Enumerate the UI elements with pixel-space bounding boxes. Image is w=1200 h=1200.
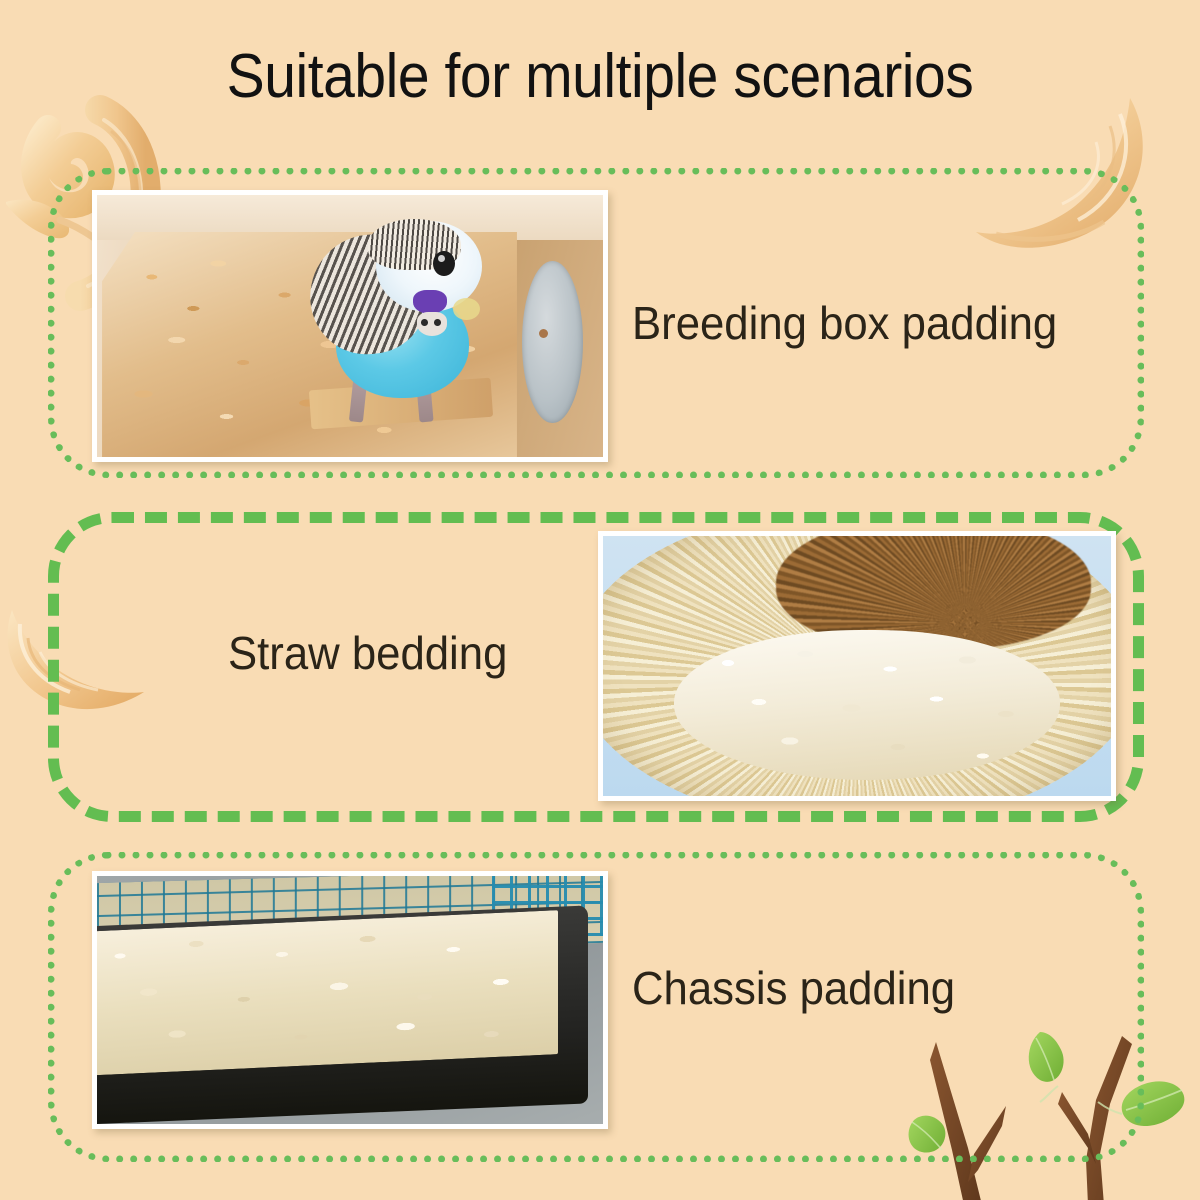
wood-shavings-tray-fill xyxy=(97,910,557,1075)
scenario-photo-breeding-box xyxy=(92,190,608,462)
perch-hole xyxy=(522,261,583,423)
page-title: Suitable for multiple scenarios xyxy=(48,42,1152,112)
scenario-photo-straw-bedding xyxy=(598,531,1116,801)
bird-cheek-patch xyxy=(453,298,479,320)
bird-beak xyxy=(417,312,447,336)
scenario-label-breeding-box: Breeding box padding xyxy=(632,297,1057,349)
scenario-photo-chassis-padding xyxy=(92,871,608,1129)
budgerigar xyxy=(299,211,501,410)
infographic-root: Suitable for multiple scenarios xyxy=(0,0,1200,1200)
scenario-label-chassis-padding: Chassis padding xyxy=(632,962,955,1014)
wood-shavings-fill xyxy=(674,630,1060,781)
scenario-label-straw-bedding: Straw bedding xyxy=(228,627,507,679)
